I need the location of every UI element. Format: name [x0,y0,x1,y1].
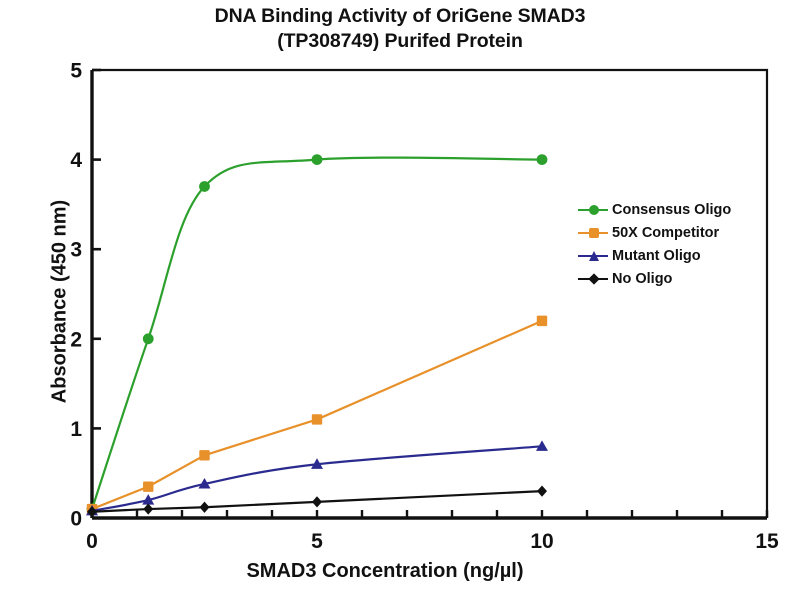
legend-marker-square-icon [578,225,608,241]
data-point-diamond [200,502,210,513]
chart-title: DNA Binding Activity of OriGene SMAD3 (T… [60,4,740,55]
y-axis-tick-label: 4 [70,149,82,172]
y-axis-tick-label: 3 [70,239,82,262]
data-point-circle [312,154,323,165]
data-point-square [199,450,209,460]
data-point-square [537,316,547,326]
series-line [92,158,542,509]
legend-marker-triangle-icon [578,248,608,264]
x-axis-tick-label: 5 [311,530,323,553]
legend-label-consensus-oligo: Consensus Oligo [608,202,731,218]
legend-marker-diamond-icon [578,271,608,287]
axes-group: 012345051015 [70,60,779,554]
data-series-group [86,154,548,517]
data-point-diamond [143,503,153,514]
data-point-diamond [537,486,547,497]
y-axis-label: Absorbance (450 nm) [49,92,72,512]
legend-item-no-oligo: No Oligo [578,267,768,290]
data-point-circle [537,154,548,165]
x-axis-label: SMAD3 Concentration (ng/µl) [90,560,680,583]
data-point-square [312,414,322,424]
plot-area: 012345051015 [0,0,800,600]
y-axis-tick-label: 1 [70,418,82,441]
legend-item-50x-competitor: 50X Competitor [578,221,768,244]
plot-frame [92,70,767,518]
y-axis-tick-label: 5 [70,60,82,83]
legend-label-no-oligo: No Oligo [608,271,672,287]
legend-label-50x-competitor: 50X Competitor [608,225,719,241]
legend-label-mutant-oligo: Mutant Oligo [608,248,701,264]
x-axis-tick-label: 0 [86,530,98,553]
y-axis-tick-label: 2 [70,328,82,351]
chart-title-line-2: (TP308749) Purifed Protein [60,29,740,54]
chart-figure: DNA Binding Activity of OriGene SMAD3 (T… [0,0,800,600]
legend-item-consensus-oligo: Consensus Oligo [578,198,768,221]
data-point-circle [199,181,210,192]
data-point-diamond [312,496,322,507]
legend-item-mutant-oligo: Mutant Oligo [578,244,768,267]
chart-legend: Consensus Oligo 50X Competitor Mutant Ol… [578,198,768,290]
data-point-circle [143,333,154,344]
x-axis-tick-label: 15 [755,530,779,553]
data-point-square [143,481,153,491]
x-axis-tick-label: 10 [530,530,553,553]
chart-title-line-1: DNA Binding Activity of OriGene SMAD3 [60,4,740,29]
series-50x-competitor [87,316,547,515]
y-axis-tick-label: 0 [70,508,82,531]
legend-marker-circle-icon [578,202,608,218]
